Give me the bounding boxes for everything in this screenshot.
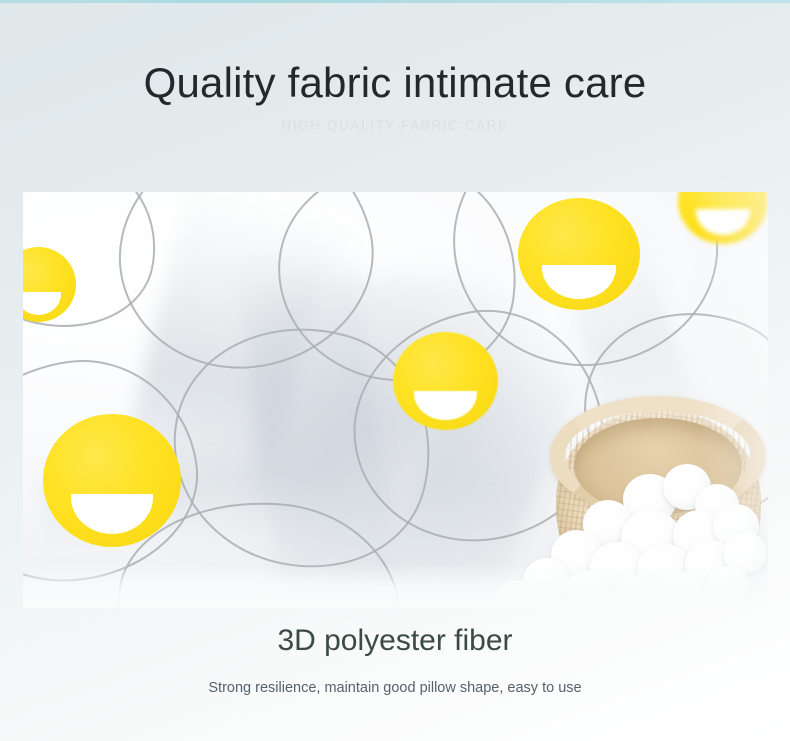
photo-right-fade bbox=[698, 192, 768, 608]
photo-bottom-fade bbox=[23, 564, 768, 608]
footer-block: 3D polyester fiber Strong resilience, ma… bbox=[0, 622, 790, 696]
egg-yolk-smiley bbox=[43, 414, 181, 547]
product-photo-canvas bbox=[23, 192, 768, 608]
yolk-smile bbox=[71, 496, 154, 533]
yolk-smile bbox=[414, 393, 477, 420]
yolk-smile bbox=[23, 294, 61, 315]
yolk-smile bbox=[542, 267, 615, 298]
header-block: Quality fabric intimate care HIGH QUALIT… bbox=[0, 58, 790, 133]
egg-yolk-smiley bbox=[393, 332, 498, 430]
feature-description: Strong resilience, maintain good pillow … bbox=[0, 680, 790, 696]
product-photo bbox=[23, 192, 768, 608]
top-accent-rule bbox=[0, 0, 790, 3]
egg-yolk-smiley bbox=[518, 198, 640, 310]
page-subtitle: HIGH QUALITY FABRIC CARE bbox=[0, 118, 790, 133]
page-title: Quality fabric intimate care bbox=[0, 58, 790, 108]
promo-banner: Quality fabric intimate care HIGH QUALIT… bbox=[0, 0, 790, 741]
feature-title: 3D polyester fiber bbox=[0, 622, 790, 660]
